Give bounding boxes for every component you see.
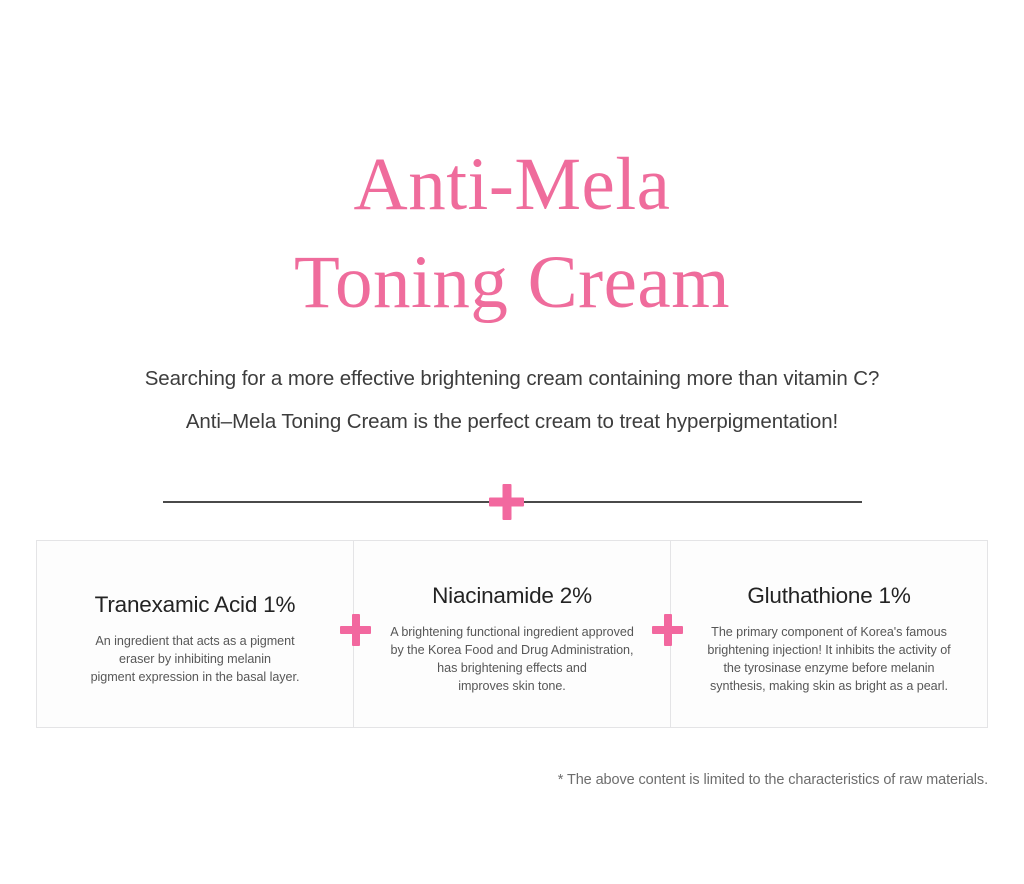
description-line: brightening injection! It inhibits the a… (707, 641, 950, 659)
ingredient-panel-group: Tranexamic Acid 1% An ingredient that ac… (36, 540, 988, 728)
ingredient-title: Niacinamide 2% (390, 581, 634, 611)
subtitle: Searching for a more effective brighteni… (0, 357, 1024, 443)
ingredient-panel-content: Niacinamide 2% A brightening functional … (390, 581, 634, 695)
section-divider (163, 484, 862, 520)
description-line: An ingredient that acts as a pigment (91, 632, 300, 650)
ingredient-panel-content: Gluthathione 1% The primary component of… (707, 581, 950, 695)
subtitle-line-2: Anti–Mela Toning Cream is the perfect cr… (0, 400, 1024, 443)
page-title-line-2: Toning Cream (0, 234, 1024, 332)
plus-icon (652, 614, 683, 646)
plus-icon (489, 484, 524, 520)
plus-icon (340, 614, 371, 646)
page-title-line-1: Anti-Mela (0, 136, 1024, 234)
ingredient-description: The primary component of Korea's famous … (707, 623, 950, 695)
footnote: * The above content is limited to the ch… (0, 769, 988, 791)
subtitle-line-1: Searching for a more effective brighteni… (0, 357, 1024, 400)
ingredient-title: Tranexamic Acid 1% (91, 590, 300, 620)
page-title: Anti-Mela Toning Cream (0, 136, 1024, 332)
ingredient-description: An ingredient that acts as a pigment era… (91, 632, 300, 686)
ingredient-panel: Gluthathione 1% The primary component of… (670, 541, 987, 727)
description-line: has brightening effects and (390, 659, 634, 677)
ingredient-description: A brightening functional ingredient appr… (390, 623, 634, 695)
description-line: eraser by inhibiting melanin (91, 650, 300, 668)
description-line: the tyrosinase enzyme before melanin (707, 659, 950, 677)
description-line: synthesis, making skin as bright as a pe… (707, 677, 950, 695)
description-line: The primary component of Korea's famous (707, 623, 950, 641)
ingredient-title: Gluthathione 1% (707, 581, 950, 611)
description-line: by the Korea Food and Drug Administratio… (390, 641, 634, 659)
description-line: A brightening functional ingredient appr… (390, 623, 634, 641)
description-line: improves skin tone. (390, 677, 634, 695)
ingredient-panel-content: Tranexamic Acid 1% An ingredient that ac… (91, 590, 300, 686)
ingredient-panel: Tranexamic Acid 1% An ingredient that ac… (37, 541, 353, 727)
product-detail-page: Anti-Mela Toning Cream Searching for a m… (0, 0, 1024, 884)
description-line: pigment expression in the basal layer. (91, 668, 300, 686)
ingredient-panel: Niacinamide 2% A brightening functional … (353, 541, 670, 727)
